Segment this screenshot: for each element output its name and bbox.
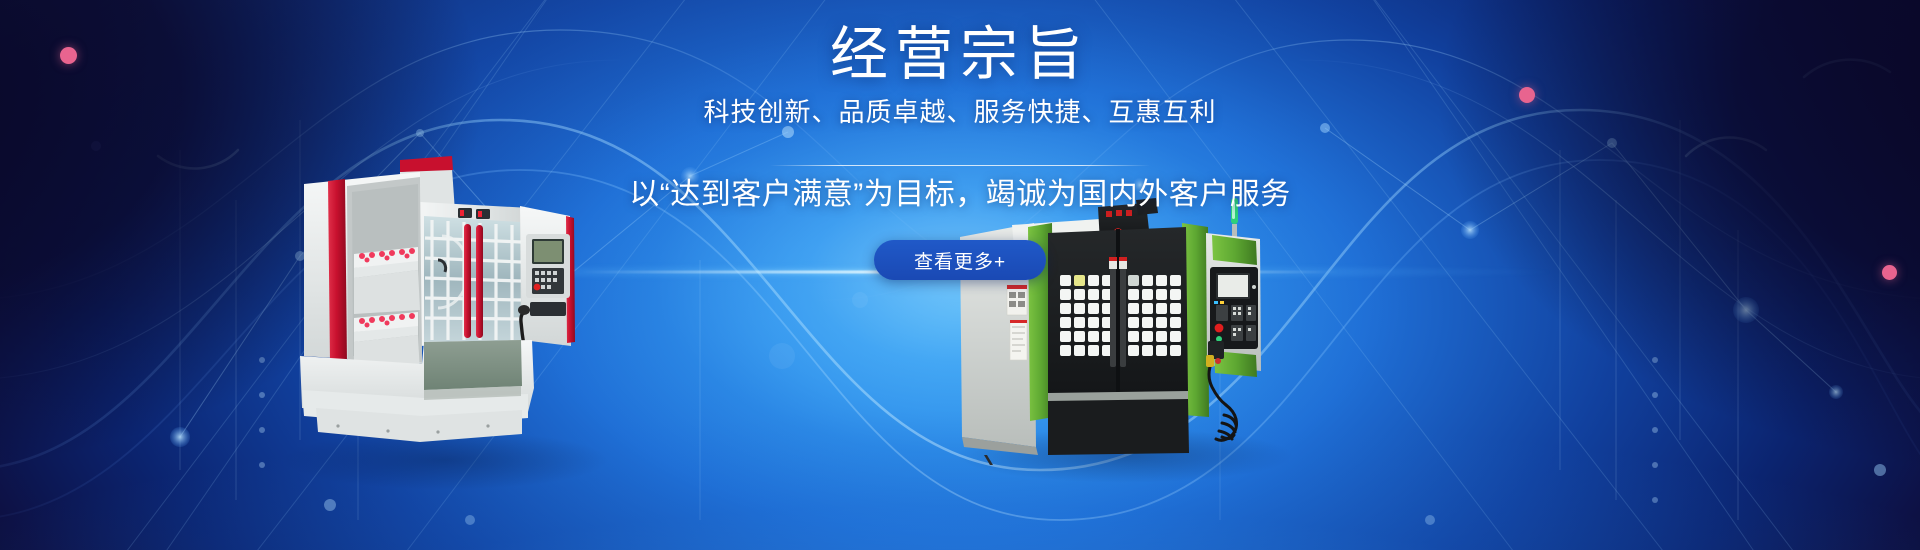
- page-title: 经营宗旨: [0, 26, 1920, 84]
- banner-tagline: 以“达到客户满意”为目标，竭诚为国内外客户服务: [0, 180, 1920, 210]
- text-divider: [770, 165, 1150, 166]
- banner-subtitle: 科技创新、品质卓越、服务快捷、互惠互利: [0, 99, 1920, 125]
- view-more-button[interactable]: 查看更多+: [874, 240, 1046, 280]
- company-philosophy-banner: 经营宗旨 科技创新、品质卓越、服务快捷、互惠互利 以“达到客户满意”为目标，竭诚…: [0, 0, 1920, 550]
- accent-dot-pink-edge: [1882, 265, 1897, 280]
